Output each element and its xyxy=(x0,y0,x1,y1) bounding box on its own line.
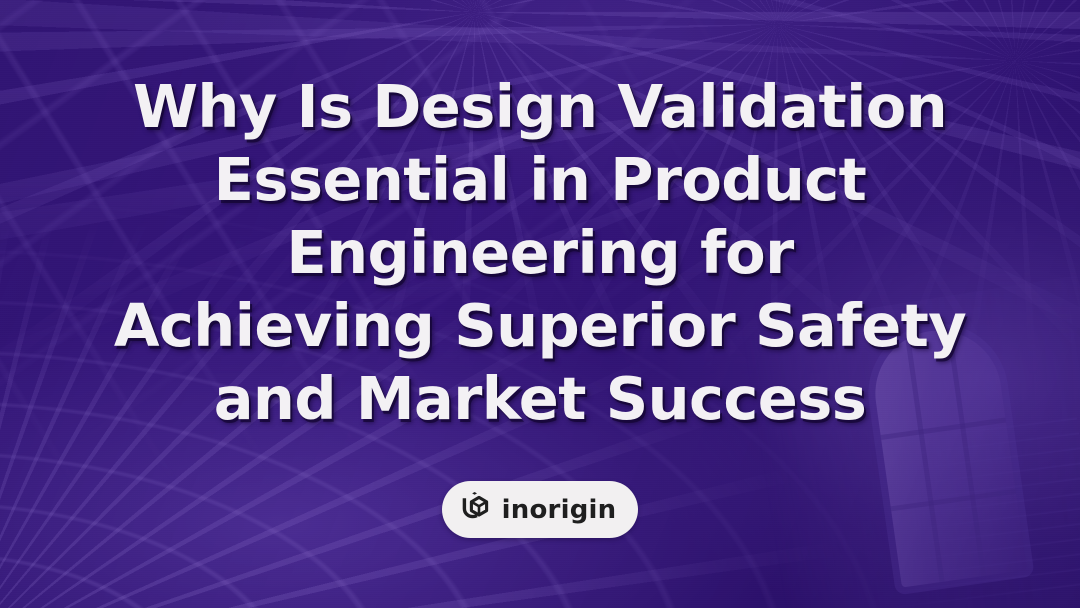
page-title-line-4: Achieving Superior Safety xyxy=(114,289,966,362)
page-title-line-1: Why Is Design Validation xyxy=(114,70,966,143)
brand-logo[interactable]: inorigin xyxy=(442,481,639,538)
page-title-line-2: Essential in Product xyxy=(114,143,966,216)
page-title-line-5: and Market Success xyxy=(114,362,966,435)
brand-wordmark: inorigin xyxy=(502,497,617,523)
page-title-line-3: Engineering for xyxy=(114,216,966,289)
blog-title-banner: Why Is Design Validation Essential in Pr… xyxy=(0,0,1080,608)
page-title: Why Is Design Validation Essential in Pr… xyxy=(90,70,990,435)
inorigin-hexagon-cube-icon xyxy=(458,490,492,529)
banner-content: Why Is Design Validation Essential in Pr… xyxy=(0,0,1080,608)
